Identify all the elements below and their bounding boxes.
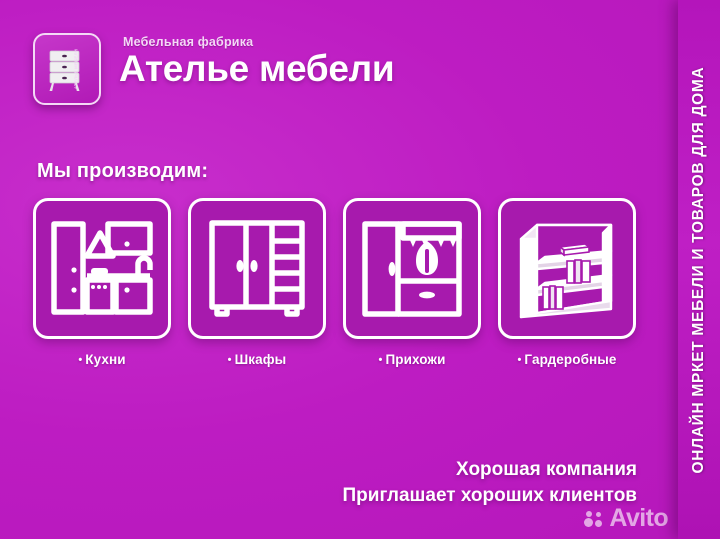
card-frame xyxy=(33,198,171,339)
brand-kicker: Мебельная фабрика xyxy=(123,35,394,49)
logo-badge: АТЕЛЬЕ МЕБЕЛИ xyxy=(33,33,101,105)
card-label-hallways: •Прихожи xyxy=(343,352,481,367)
card-label-text: Прихожи xyxy=(385,352,445,367)
card-label-kitchens: •Кухни xyxy=(33,352,171,367)
tagline: Хорошая компания Приглашает хороших клие… xyxy=(343,457,637,509)
avito-watermark: Avito xyxy=(584,506,668,531)
bullet-icon: • xyxy=(378,354,382,366)
product-card-walkin-closets[interactable]: •Гардеробные xyxy=(498,198,636,367)
wardrobe-icon xyxy=(207,219,307,319)
kitchen-icon xyxy=(50,218,154,320)
hallway-icon xyxy=(361,219,463,319)
tagline-line-1: Хорошая компания xyxy=(343,457,637,483)
avito-dots-icon xyxy=(584,509,605,528)
bullet-icon: • xyxy=(78,354,82,366)
card-label-text: Шкафы xyxy=(235,352,287,367)
product-card-wardrobes[interactable]: •Шкафы xyxy=(188,198,326,367)
title-block: Мебельная фабрика Ателье мебели xyxy=(119,33,394,88)
bullet-icon: • xyxy=(228,354,232,366)
card-label-walkin-closets: •Гардеробные xyxy=(498,352,636,367)
side-banner: ОНЛАЙН МРКЕТ МЕБЕЛИ И ТОВАРОВ ДЛЯ ДОМА xyxy=(678,0,720,539)
shelving-unit-icon xyxy=(515,217,619,321)
section-heading: Мы производим: xyxy=(37,160,208,183)
card-label-wardrobes: •Шкафы xyxy=(188,352,326,367)
card-frame xyxy=(188,198,326,339)
card-label-text: Кухни xyxy=(85,352,125,367)
card-frame xyxy=(498,198,636,339)
side-banner-text: ОНЛАЙН МРКЕТ МЕБЕЛИ И ТОВАРОВ ДЛЯ ДОМА xyxy=(690,66,708,473)
card-frame xyxy=(343,198,481,339)
avito-wordmark: Avito xyxy=(609,506,668,531)
header: АТЕЛЬЕ МЕБЕЛИ Мебельная фабрика Ателье м… xyxy=(33,33,394,105)
brand-title: Ателье мебели xyxy=(119,50,394,88)
product-card-hallways[interactable]: •Прихожи xyxy=(343,198,481,367)
card-label-text: Гардеробные xyxy=(524,352,616,367)
product-card-kitchens[interactable]: •Кухни xyxy=(33,198,171,367)
logo-micro-text: АТЕЛЬЕ МЕБЕЛИ xyxy=(73,49,78,89)
bullet-icon: • xyxy=(517,354,521,366)
poster-canvas: АТЕЛЬЕ МЕБЕЛИ Мебельная фабрика Ателье м… xyxy=(0,0,720,539)
product-card-list: •Кухни xyxy=(33,198,636,367)
